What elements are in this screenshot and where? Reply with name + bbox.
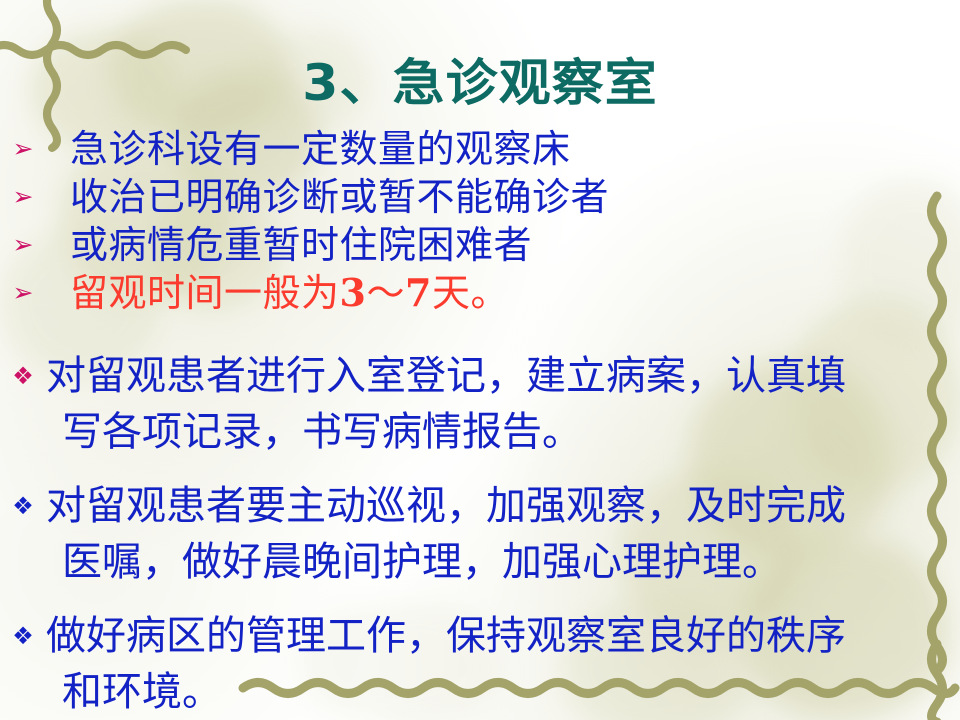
list-item: ❖ 对留观患者进行入室登记，建立病案，认真填 写各项记录，书写病情报告。 bbox=[0, 348, 960, 460]
list-item-text-highlighted: 留观时间一般为3～7天。 bbox=[46, 270, 509, 316]
list-item: ❖ 做好病区的管理工作，保持观察室良好的秩序 和环境。 bbox=[0, 608, 960, 720]
highlight-text-lead: 留观时间一般为 bbox=[70, 271, 340, 315]
paragraph-line-2: 写各项记录，书写病情报告。 bbox=[46, 404, 926, 460]
diamond-bullet-list: ❖ 对留观患者进行入室登记，建立病案，认真填 写各项记录，书写病情报告。 ❖ 对… bbox=[0, 348, 960, 720]
slide-content: 3、急诊观察室 ➢ 急诊科设有一定数量的观察床 ➢ 收治已明确诊断或暂不能确诊者… bbox=[0, 0, 960, 720]
list-item-text: 对留观患者要主动巡视，加强观察，及时完成 医嘱，做好晨晚间护理，加强心理护理。 bbox=[46, 478, 926, 590]
list-item: ➢ 或病情危重暂时住院困难者 bbox=[0, 222, 960, 270]
list-item-text: 急诊科设有一定数量的观察床 bbox=[46, 126, 571, 172]
paragraph-line-2: 和环境。 bbox=[46, 664, 926, 720]
list-item: ❖ 对留观患者要主动巡视，加强观察，及时完成 医嘱，做好晨晚间护理，加强心理护理… bbox=[0, 478, 960, 590]
diamond-bullet-icon: ❖ bbox=[0, 478, 46, 534]
list-item-text: 收治已明确诊断或暂不能确诊者 bbox=[46, 174, 609, 220]
arrow-bullet-icon: ➢ bbox=[0, 270, 46, 316]
highlight-range-separator: ～ bbox=[366, 271, 405, 315]
paragraph-line-1: 做好病区的管理工作，保持观察室良好的秩序 bbox=[46, 613, 846, 659]
diamond-bullet-icon: ❖ bbox=[0, 348, 46, 404]
arrow-bullet-icon: ➢ bbox=[0, 222, 46, 268]
paragraph-line-2: 医嘱，做好晨晚间护理，加强心理护理。 bbox=[46, 534, 926, 590]
slide-canvas: 3、急诊观察室 ➢ 急诊科设有一定数量的观察床 ➢ 收治已明确诊断或暂不能确诊者… bbox=[0, 0, 960, 720]
list-item: ➢ 急诊科设有一定数量的观察床 bbox=[0, 126, 960, 174]
page-title: 3、急诊观察室 bbox=[0, 58, 960, 108]
list-item: ➢ 收治已明确诊断或暂不能确诊者 bbox=[0, 174, 960, 222]
list-item: ➢ 留观时间一般为3～7天。 bbox=[0, 270, 960, 318]
list-item-text: 或病情危重暂时住院困难者 bbox=[46, 222, 532, 268]
list-item-text: 对留观患者进行入室登记，建立病案，认真填 写各项记录，书写病情报告。 bbox=[46, 348, 926, 460]
highlight-bold-a: 3 bbox=[340, 270, 367, 315]
highlight-bold-b: 7 bbox=[405, 270, 432, 315]
highlight-text-tail: 天。 bbox=[432, 271, 509, 315]
arrow-bullet-icon: ➢ bbox=[0, 174, 46, 220]
paragraph-line-1: 对留观患者进行入室登记，建立病案，认真填 bbox=[46, 353, 846, 399]
list-item-text: 做好病区的管理工作，保持观察室良好的秩序 和环境。 bbox=[46, 608, 926, 720]
arrow-bullet-icon: ➢ bbox=[0, 126, 46, 172]
paragraph-line-1: 对留观患者要主动巡视，加强观察，及时完成 bbox=[46, 483, 846, 529]
arrow-bullet-list: ➢ 急诊科设有一定数量的观察床 ➢ 收治已明确诊断或暂不能确诊者 ➢ 或病情危重… bbox=[0, 126, 960, 318]
diamond-bullet-icon: ❖ bbox=[0, 608, 46, 664]
